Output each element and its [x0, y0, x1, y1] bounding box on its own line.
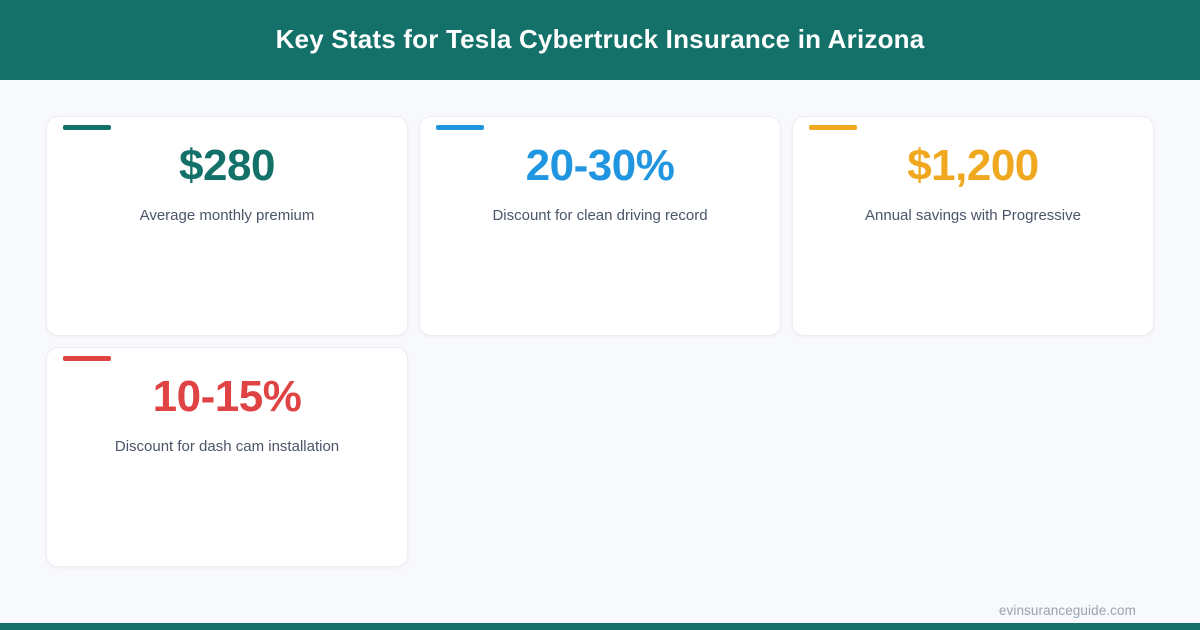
stat-card-body: $280 Average monthly premium: [47, 141, 407, 225]
stat-card-body: $1,200 Annual savings with Progressive: [793, 141, 1153, 225]
header-banner: Key Stats for Tesla Cybertruck Insurance…: [0, 0, 1200, 80]
stat-label: Discount for dash cam installation: [115, 437, 339, 457]
card-accent-bar: [63, 125, 111, 130]
card-accent-bar: [63, 356, 111, 361]
stat-card-grid: $280 Average monthly premium 20-30% Disc…: [46, 116, 1154, 567]
stat-card: $280 Average monthly premium: [46, 116, 408, 336]
stat-label: Discount for clean driving record: [492, 206, 707, 226]
infographic-page: Key Stats for Tesla Cybertruck Insurance…: [0, 0, 1200, 630]
stat-label: Annual savings with Progressive: [865, 206, 1081, 226]
stat-card: 20-30% Discount for clean driving record: [419, 116, 781, 336]
card-accent-bar: [436, 125, 484, 130]
stat-value: $1,200: [907, 141, 1039, 192]
stat-value: $280: [179, 141, 275, 192]
page-title: Key Stats for Tesla Cybertruck Insurance…: [276, 24, 925, 55]
stat-card: 10-15% Discount for dash cam installatio…: [46, 347, 408, 567]
stat-value: 10-15%: [153, 372, 302, 423]
stat-value: 20-30%: [526, 141, 675, 192]
bottom-accent-bar: [0, 623, 1200, 630]
stat-card-body: 20-30% Discount for clean driving record: [420, 141, 780, 225]
stat-card-body: 10-15% Discount for dash cam installatio…: [47, 372, 407, 456]
stat-card: $1,200 Annual savings with Progressive: [792, 116, 1154, 336]
site-watermark: evinsuranceguide.com: [999, 603, 1136, 618]
card-accent-bar: [809, 125, 857, 130]
stat-label: Average monthly premium: [140, 206, 315, 226]
